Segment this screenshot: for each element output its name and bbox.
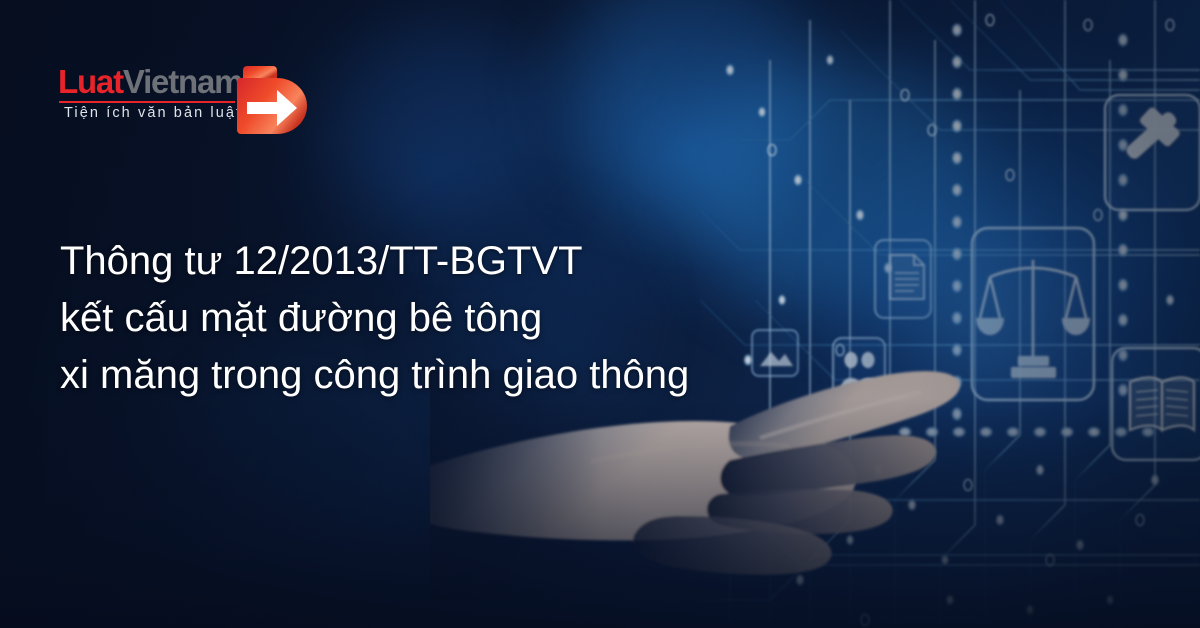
logo-word-luat: Luat <box>58 63 123 100</box>
headline-line-1: Thông tư 12/2013/TT-BGTVT <box>60 233 860 290</box>
headline-block: Thông tư 12/2013/TT-BGTVT kết cấu mặt đư… <box>60 233 860 404</box>
luatvietnam-logo[interactable]: LuatVietnam Tiện ích văn bản luật <box>58 58 310 136</box>
banner-image: LuatVietnam Tiện ích văn bản luật <box>0 0 1200 628</box>
logo-divider <box>59 101 235 103</box>
logo-tagline: Tiện ích văn bản luật <box>64 105 242 121</box>
logo-wordmark: LuatVietnam <box>58 63 242 101</box>
headline-line-2: kết cấu mặt đường bê tông <box>60 290 860 347</box>
headline-line-3: xi măng trong công trình giao thông <box>60 347 860 404</box>
bottom-shade-overlay <box>0 398 1200 628</box>
logo-word-vietnam: Vietnam <box>123 63 242 100</box>
folder-arrow-icon <box>233 58 315 134</box>
